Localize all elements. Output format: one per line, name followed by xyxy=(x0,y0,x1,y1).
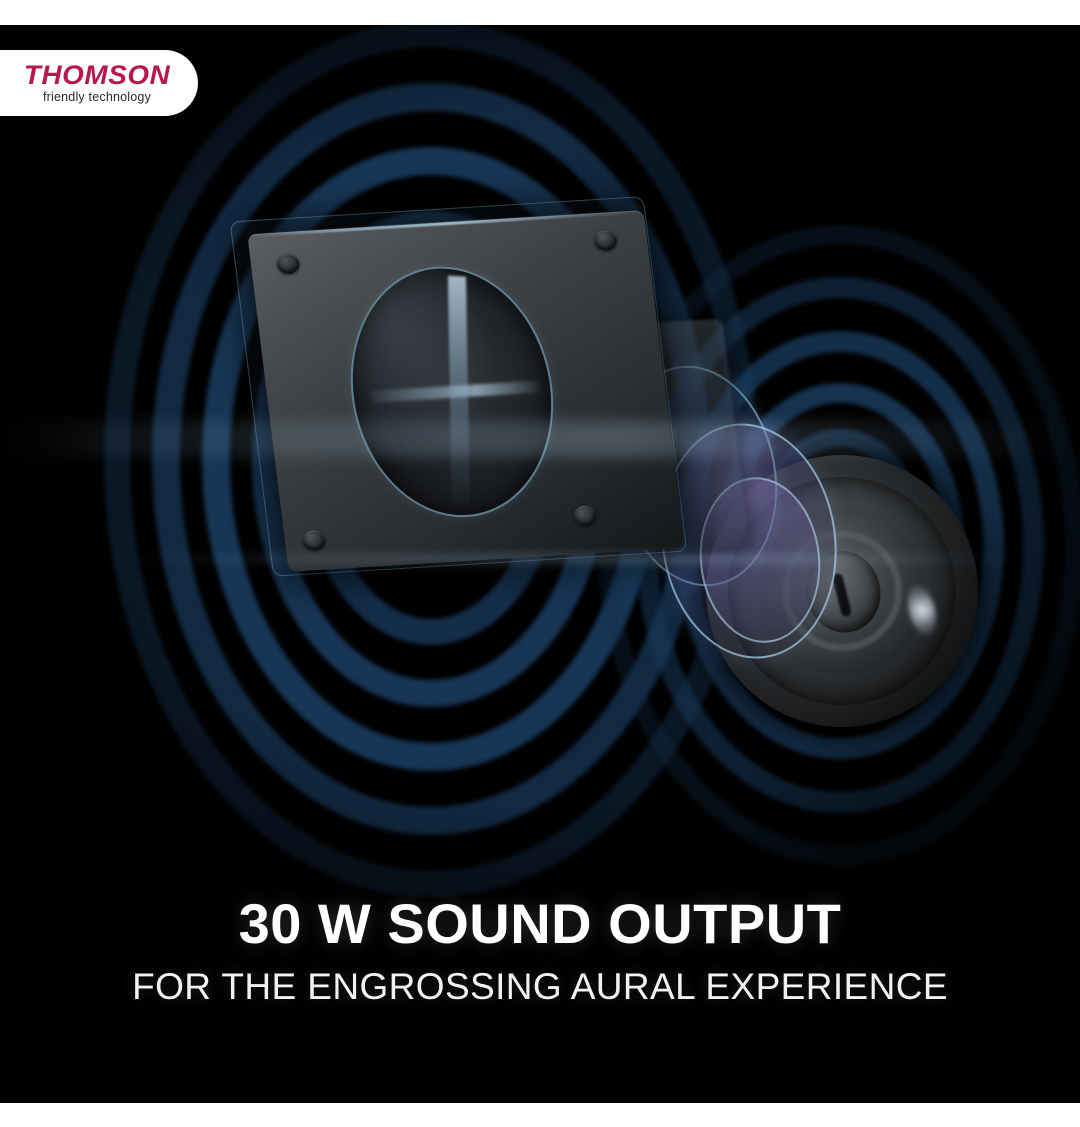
mounting-screw-bottom-right xyxy=(573,505,597,526)
cutout-reflection-horizontal xyxy=(371,381,540,403)
creative-artboard: THOMSON friendly technology 30 W SOUND O… xyxy=(0,25,1080,1103)
mounting-screw-bottom-left xyxy=(302,530,326,551)
brand-wordmark: THOMSON xyxy=(24,62,170,89)
faceplate-oval-cutout xyxy=(337,261,568,523)
faceplate-body xyxy=(247,210,684,572)
cutout-reflection-vertical xyxy=(448,276,470,505)
brand-logo-badge: THOMSON friendly technology xyxy=(0,50,198,116)
cutout-sheen xyxy=(337,261,498,465)
headline-text: 30 W SOUND OUTPUT xyxy=(0,895,1080,954)
mounting-screw-top-left xyxy=(276,253,300,274)
advertisement-canvas: THOMSON friendly technology 30 W SOUND O… xyxy=(0,0,1080,1127)
letterbox-top-strip xyxy=(0,0,1080,25)
subheadline-text: FOR THE ENGROSSING AURAL EXPERIENCE xyxy=(0,967,1080,1008)
brand-tagline: friendly technology xyxy=(43,91,151,104)
copy-block: 30 W SOUND OUTPUT FOR THE ENGROSSING AUR… xyxy=(0,895,1080,1007)
mounting-screw-top-right xyxy=(593,230,617,251)
letterbox-bottom-strip xyxy=(0,1103,1080,1127)
speaker-faceplate xyxy=(247,210,684,572)
